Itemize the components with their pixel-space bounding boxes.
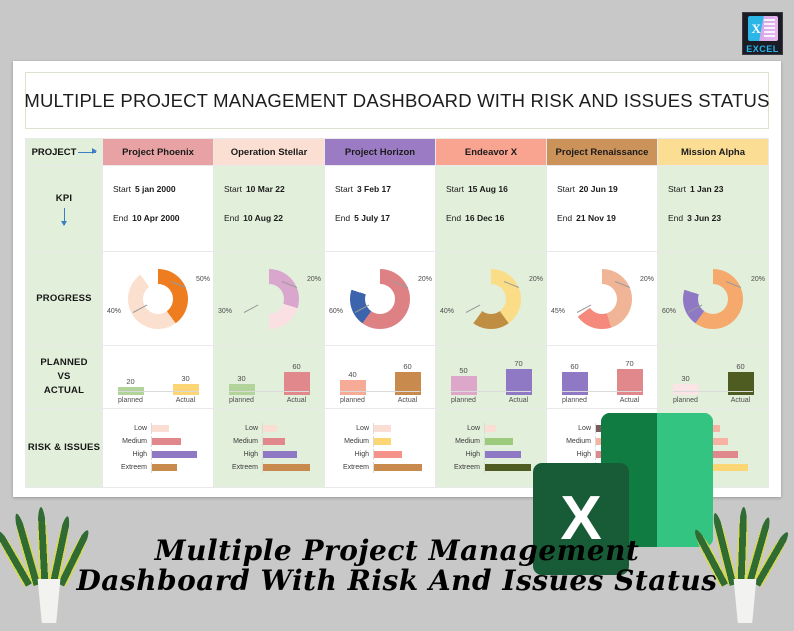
excel-badge: X EXCEL xyxy=(742,12,783,55)
pva-cell-4: 60planned70Actual xyxy=(547,346,658,409)
bar-caption: Actual xyxy=(287,397,306,404)
kpi-end-line: End3 Jun 23 xyxy=(668,213,768,223)
bar-value: 70 xyxy=(514,359,522,368)
bar-group-actual: 30Actual xyxy=(168,374,204,404)
kpi-end-value: 3 Jun 23 xyxy=(687,213,721,223)
risk-bar-track xyxy=(706,423,762,434)
risk-category-label: Low xyxy=(551,425,595,432)
progress-cell-5: 60%20% xyxy=(658,252,769,346)
risk-category-label: Medium xyxy=(329,438,373,445)
risk-row: High xyxy=(440,449,540,460)
progress-label-1: 20% xyxy=(529,276,543,283)
risk-row: High xyxy=(218,449,318,460)
bar-caption: Actual xyxy=(398,397,417,404)
risk-bar xyxy=(707,464,748,471)
risk-bar-track xyxy=(151,462,207,473)
donut-hole xyxy=(143,284,173,314)
risk-category-label: Medium xyxy=(218,438,262,445)
risk-bar xyxy=(485,425,496,432)
bar xyxy=(562,372,588,395)
row-label-kpi: KPI xyxy=(26,166,103,252)
bar xyxy=(284,372,310,395)
progress-label-1: 20% xyxy=(640,276,654,283)
kpi-cell-5: Start1 Jan 23End3 Jun 23 xyxy=(658,166,769,252)
risk-cell-3: LowMediumHighExtreem xyxy=(436,409,547,488)
risk-bar xyxy=(485,464,531,471)
bar-caption: planned xyxy=(229,397,254,404)
kpi-end-value: 16 Dec 16 xyxy=(465,213,504,223)
kpi-start-key: Start xyxy=(557,184,575,194)
bar xyxy=(673,384,699,395)
risk-bar-track xyxy=(151,436,207,447)
risk-category-label: High xyxy=(218,451,262,458)
plant-pot xyxy=(34,579,64,623)
progress-label-0: 45% xyxy=(551,308,565,315)
risk-category-label: Extreem xyxy=(329,464,373,471)
risk-row: Medium xyxy=(329,436,429,447)
risk-bar xyxy=(596,451,620,458)
donut-chart xyxy=(239,269,299,329)
kpi-end-key: End xyxy=(335,213,350,223)
progress-cell-4: 45%20% xyxy=(547,252,658,346)
risk-category-label: Extreem xyxy=(440,464,484,471)
dashboard-title-bar: MULTIPLE PROJECT MANAGEMENT DASHBOARD WI… xyxy=(25,72,769,129)
risk-bar-track xyxy=(262,436,318,447)
risk-bar-track xyxy=(595,423,651,434)
pva-chart-1: 30planned60Actual xyxy=(214,346,324,408)
kpi-start-line: Start10 Mar 22 xyxy=(224,184,324,194)
pva-cell-2: 40planned60Actual xyxy=(325,346,436,409)
row-label-progress: PROGRESS xyxy=(26,252,103,346)
kpi-start-value: 1 Jan 23 xyxy=(690,184,724,194)
risk-bar-track xyxy=(706,462,762,473)
project-name: Mission Alpha xyxy=(681,147,745,158)
project-header-0[interactable]: Project Phoenix xyxy=(103,139,214,166)
bar-caption: Actual xyxy=(176,397,195,404)
risk-chart-5: LowMediumHighExtreem xyxy=(658,409,768,487)
kpi-end-value: 5 July 17 xyxy=(354,213,390,223)
kpi-end-line: End21 Nov 19 xyxy=(557,213,657,223)
risk-bar xyxy=(263,438,285,445)
risk-chart-2: LowMediumHighExtreem xyxy=(325,409,435,487)
risk-bar xyxy=(707,425,720,432)
risk-bar xyxy=(596,464,630,471)
caption-line-2: Dashboard With Risk And Issues Status xyxy=(76,566,717,595)
donut-hole xyxy=(476,284,506,314)
donut-hole xyxy=(254,284,284,314)
risk-row: Medium xyxy=(440,436,540,447)
risk-bar xyxy=(152,438,181,445)
risk-category-label: Low xyxy=(218,425,262,432)
kpi-start-value: 10 Mar 22 xyxy=(246,184,285,194)
progress-label-0: 60% xyxy=(662,308,676,315)
bar-value: 60 xyxy=(736,362,744,371)
kpi-cell-1: Start10 Mar 22End10 Aug 22 xyxy=(214,166,325,252)
dashboard-board: MULTIPLE PROJECT MANAGEMENT DASHBOARD WI… xyxy=(13,61,781,497)
bar-group-actual: 60Actual xyxy=(279,362,315,404)
risk-issues-row: RISK & ISSUESLowMediumHighExtreemLowMedi… xyxy=(26,409,769,488)
kpi-cell-3: Start15 Aug 16End16 Dec 16 xyxy=(436,166,547,252)
bar-value: 60 xyxy=(403,362,411,371)
bar-group-planned: 30planned xyxy=(224,374,260,404)
risk-bar-track xyxy=(484,423,540,434)
pva-cell-5: 30planned60Actual xyxy=(658,346,769,409)
bar-caption: planned xyxy=(451,397,476,404)
kpi-start-key: Start xyxy=(113,184,131,194)
bar-group-planned: 20planned xyxy=(113,377,149,404)
progress-label-0: 40% xyxy=(107,308,121,315)
bar-caption: planned xyxy=(118,397,143,404)
row-label-pva-1: PLANNED xyxy=(40,357,87,368)
kpi-start-line: Start1 Jan 23 xyxy=(668,184,768,194)
bar-value: 40 xyxy=(348,370,356,379)
progress-label-1: 20% xyxy=(751,276,765,283)
risk-category-label: High xyxy=(551,451,595,458)
risk-category-label: Medium xyxy=(107,438,151,445)
bar xyxy=(118,387,144,395)
risk-bar xyxy=(374,464,422,471)
progress-chart-2: 60%20% xyxy=(325,252,435,345)
risk-bar xyxy=(263,464,310,471)
progress-cell-3: 40%20% xyxy=(436,252,547,346)
risk-row: Low xyxy=(107,423,207,434)
bar-group-planned: 40planned xyxy=(335,370,371,404)
kpi-end-line: End10 Aug 22 xyxy=(224,213,324,223)
bar-caption: Actual xyxy=(620,397,639,404)
risk-row: Low xyxy=(218,423,318,434)
risk-row: Medium xyxy=(551,436,651,447)
risk-bar xyxy=(485,451,521,458)
risk-bar-track xyxy=(706,436,762,447)
risk-row: Low xyxy=(551,423,651,434)
risk-chart-4: LowMediumHighExtreem xyxy=(547,409,657,487)
risk-category-label: Low xyxy=(440,425,484,432)
kpi-start-line: Start15 Aug 16 xyxy=(446,184,546,194)
risk-cell-1: LowMediumHighExtreem xyxy=(214,409,325,488)
bar-caption: planned xyxy=(673,397,698,404)
risk-cell-0: LowMediumHighExtreem xyxy=(103,409,214,488)
bar xyxy=(617,369,643,395)
row-label-pva-2: VS xyxy=(57,371,70,382)
row-label-risk-text: RISK & ISSUES xyxy=(28,442,100,453)
kpi-start-line: Start20 Jun 19 xyxy=(557,184,657,194)
bar xyxy=(395,372,421,395)
bar xyxy=(728,372,754,395)
project-header-3[interactable]: Endeavor X xyxy=(436,139,547,166)
kpi-cell-2: Start3 Feb 17End5 July 17 xyxy=(325,166,436,252)
kpi-start-line: Start5 jan 2000 xyxy=(113,184,213,194)
risk-bar-track xyxy=(595,462,651,473)
pva-chart-2: 40planned60Actual xyxy=(325,346,435,408)
caption-line-1: Multiple Project Management xyxy=(155,536,640,565)
risk-row: High xyxy=(551,449,651,460)
kpi-end-key: End xyxy=(668,213,683,223)
risk-bar xyxy=(707,451,738,458)
plant-left-decoration xyxy=(6,503,92,623)
project-header-4[interactable]: Project Renaissance xyxy=(547,139,658,166)
risk-bar-track xyxy=(262,462,318,473)
arrow-right-icon xyxy=(78,152,96,153)
bar-value: 60 xyxy=(292,362,300,371)
risk-category-label: Medium xyxy=(551,438,595,445)
risk-bar xyxy=(374,451,402,458)
project-name: Endeavor X xyxy=(465,147,517,158)
bar-caption: Actual xyxy=(509,397,528,404)
project-header-row: PROJECTProject PhoenixOperation StellarP… xyxy=(26,139,769,166)
progress-label-0: 40% xyxy=(440,308,454,315)
bar xyxy=(173,384,199,395)
bar-group-planned: 60planned xyxy=(557,362,593,404)
project-name: Project Horizon xyxy=(345,147,415,158)
pva-cell-3: 50planned70Actual xyxy=(436,346,547,409)
risk-bar xyxy=(596,425,613,432)
bar-group-actual: 70Actual xyxy=(501,359,537,404)
risk-bar xyxy=(152,464,177,471)
bar-caption: planned xyxy=(562,397,587,404)
risk-bar-track xyxy=(595,436,651,447)
kpi-start-key: Start xyxy=(446,184,464,194)
risk-bar xyxy=(152,425,169,432)
risk-bar xyxy=(485,438,513,445)
bar xyxy=(506,369,532,395)
risk-row: Medium xyxy=(218,436,318,447)
donut-chart xyxy=(128,269,188,329)
kpi-cell-0: Start5 jan 2000End10 Apr 2000 xyxy=(103,166,214,252)
risk-category-label: High xyxy=(107,451,151,458)
bar-value: 30 xyxy=(681,374,689,383)
risk-bar xyxy=(263,451,297,458)
risk-cell-5: LowMediumHighExtreem xyxy=(658,409,769,488)
progress-label-1: 50% xyxy=(196,276,210,283)
risk-bar-track xyxy=(151,423,207,434)
progress-chart-3: 40%20% xyxy=(436,252,546,345)
pva-chart-3: 50planned70Actual xyxy=(436,346,546,408)
excel-icon: X xyxy=(748,16,778,41)
risk-row: Extreem xyxy=(662,462,762,473)
risk-bar-track xyxy=(373,462,429,473)
excel-icon-lines xyxy=(764,19,775,38)
donut-chart xyxy=(350,269,410,329)
kpi-end-value: 10 Aug 22 xyxy=(243,213,283,223)
plant-pot xyxy=(730,579,760,623)
risk-bar-track xyxy=(484,462,540,473)
risk-row: Extreem xyxy=(107,462,207,473)
pva-cell-1: 30planned60Actual xyxy=(214,346,325,409)
kpi-cell-4: Start20 Jun 19End21 Nov 19 xyxy=(547,166,658,252)
row-label-pva-3: ACTUAL xyxy=(44,385,84,396)
risk-row: Medium xyxy=(107,436,207,447)
kpi-end-key: End xyxy=(113,213,128,223)
bar-caption: Actual xyxy=(731,397,750,404)
risk-bar-track xyxy=(706,449,762,460)
risk-row: High xyxy=(329,449,429,460)
pva-chart-4: 60planned70Actual xyxy=(547,346,657,408)
row-label-progress-text: PROGRESS xyxy=(36,293,91,304)
project-header-5[interactable]: Mission Alpha xyxy=(658,139,769,166)
row-label-risk: RISK & ISSUES xyxy=(26,409,103,488)
pva-cell-0: 20planned30Actual xyxy=(103,346,214,409)
risk-bar xyxy=(374,425,391,432)
risk-category-label: Extreem xyxy=(551,464,595,471)
bottom-caption: Multiple Project Management Dashboard Wi… xyxy=(0,500,794,631)
risk-row: Low xyxy=(440,423,540,434)
kpi-start-line: Start3 Feb 17 xyxy=(335,184,435,194)
page-title: MULTIPLE PROJECT MANAGEMENT DASHBOARD WI… xyxy=(24,90,769,112)
pva-chart-0: 20planned30Actual xyxy=(103,346,213,408)
project-name: Project Renaissance xyxy=(556,147,649,158)
risk-category-label: Low xyxy=(329,425,373,432)
bar-value: 30 xyxy=(181,374,189,383)
donut-hole xyxy=(365,284,395,314)
progress-row: PROGRESS40%50%30%20%60%20%40%20%45%20%60… xyxy=(26,252,769,346)
bar-value: 30 xyxy=(237,374,245,383)
kpi-start-value: 5 jan 2000 xyxy=(135,184,176,194)
row-label-kpi-text: KPI xyxy=(56,193,72,204)
risk-category-label: Medium xyxy=(662,438,706,445)
progress-chart-5: 60%20% xyxy=(658,252,768,345)
risk-category-label: Medium xyxy=(440,438,484,445)
bar xyxy=(340,380,366,395)
risk-cell-2: LowMediumHighExtreem xyxy=(325,409,436,488)
bar-caption: planned xyxy=(340,397,365,404)
kpi-row: KPIStart5 jan 2000End10 Apr 2000Start10 … xyxy=(26,166,769,252)
risk-bar-track xyxy=(262,423,318,434)
risk-bar xyxy=(374,438,391,445)
risk-bar xyxy=(263,425,277,432)
risk-chart-3: LowMediumHighExtreem xyxy=(436,409,546,487)
risk-bar-track xyxy=(373,423,429,434)
donut-chart xyxy=(572,269,632,329)
risk-bar-track xyxy=(373,436,429,447)
risk-bar-track xyxy=(595,449,651,460)
bar-group-planned: 30planned xyxy=(668,374,704,404)
risk-category-label: High xyxy=(329,451,373,458)
kpi-end-key: End xyxy=(557,213,572,223)
risk-cell-4: LowMediumHighExtreem xyxy=(547,409,658,488)
risk-bar-track xyxy=(373,449,429,460)
risk-bar-track xyxy=(484,436,540,447)
project-header-2[interactable]: Project Horizon xyxy=(325,139,436,166)
donut-chart xyxy=(683,269,743,329)
kpi-start-key: Start xyxy=(224,184,242,194)
risk-row: Extreem xyxy=(440,462,540,473)
progress-chart-0: 40%50% xyxy=(103,252,213,345)
kpi-end-line: End16 Dec 16 xyxy=(446,213,546,223)
kpi-end-key: End xyxy=(446,213,461,223)
progress-chart-1: 30%20% xyxy=(214,252,324,345)
excel-badge-label: EXCEL xyxy=(746,44,779,54)
risk-row: Low xyxy=(662,423,762,434)
kpi-end-line: End10 Apr 2000 xyxy=(113,213,213,223)
risk-row: Extreem xyxy=(551,462,651,473)
risk-row: High xyxy=(107,449,207,460)
kpi-end-value: 10 Apr 2000 xyxy=(132,213,179,223)
bar-value: 20 xyxy=(126,377,134,386)
bar-group-actual: 70Actual xyxy=(612,359,648,404)
progress-label-0: 60% xyxy=(329,308,343,315)
bar-group-actual: 60Actual xyxy=(723,362,759,404)
risk-category-label: Extreem xyxy=(107,464,151,471)
bar-group-planned: 50planned xyxy=(446,366,482,404)
pva-chart-5: 30planned60Actual xyxy=(658,346,768,408)
bar-value: 60 xyxy=(570,362,578,371)
risk-row: Extreem xyxy=(218,462,318,473)
donut-hole xyxy=(587,284,617,314)
bar-group-actual: 60Actual xyxy=(390,362,426,404)
kpi-start-value: 15 Aug 16 xyxy=(468,184,508,194)
kpi-start-key: Start xyxy=(335,184,353,194)
progress-label-1: 20% xyxy=(418,276,432,283)
grid-corner-label: PROJECT xyxy=(26,139,103,166)
project-header-1[interactable]: Operation Stellar xyxy=(214,139,325,166)
donut-hole xyxy=(698,284,728,314)
project-name: Operation Stellar xyxy=(231,147,308,158)
project-name: Project Phoenix xyxy=(122,147,194,158)
arrow-down-icon xyxy=(64,208,65,225)
kpi-end-line: End5 July 17 xyxy=(335,213,435,223)
risk-chart-0: LowMediumHighExtreem xyxy=(103,409,213,487)
risk-category-label: High xyxy=(440,451,484,458)
bar xyxy=(229,384,255,395)
risk-bar-track xyxy=(484,449,540,460)
risk-bar-track xyxy=(151,449,207,460)
bar-value: 70 xyxy=(625,359,633,368)
kpi-start-value: 3 Feb 17 xyxy=(357,184,391,194)
plant-right-decoration xyxy=(702,503,788,623)
risk-category-label: Low xyxy=(107,425,151,432)
bar xyxy=(451,376,477,395)
progress-label-1: 20% xyxy=(307,276,321,283)
planned-vs-actual-row: PLANNEDVSACTUAL20planned30Actual30planne… xyxy=(26,346,769,409)
risk-row: High xyxy=(662,449,762,460)
risk-category-label: Extreem xyxy=(218,464,262,471)
dashboard-grid: PROJECTProject PhoenixOperation StellarP… xyxy=(25,138,769,488)
progress-cell-0: 40%50% xyxy=(103,252,214,346)
risk-category-label: Low xyxy=(662,425,706,432)
risk-category-label: High xyxy=(662,451,706,458)
progress-cell-1: 30%20% xyxy=(214,252,325,346)
corner-label-text: PROJECT xyxy=(32,147,77,158)
risk-row: Extreem xyxy=(329,462,429,473)
risk-bar xyxy=(596,438,608,445)
progress-chart-4: 45%20% xyxy=(547,252,657,345)
kpi-start-value: 20 Jun 19 xyxy=(579,184,618,194)
kpi-start-key: Start xyxy=(668,184,686,194)
excel-icon-letter: X xyxy=(752,22,761,35)
bar-value: 50 xyxy=(459,366,467,375)
risk-row: Low xyxy=(329,423,429,434)
row-label-planned-vs-actual: PLANNEDVSACTUAL xyxy=(26,346,103,409)
risk-category-label: Extreem xyxy=(662,464,706,471)
donut-chart xyxy=(461,269,521,329)
risk-bar-track xyxy=(262,449,318,460)
risk-chart-1: LowMediumHighExtreem xyxy=(214,409,324,487)
risk-row: Medium xyxy=(662,436,762,447)
kpi-end-key: End xyxy=(224,213,239,223)
risk-bar xyxy=(152,451,197,458)
risk-bar xyxy=(707,438,728,445)
progress-label-0: 30% xyxy=(218,308,232,315)
kpi-end-value: 21 Nov 19 xyxy=(576,213,616,223)
progress-cell-2: 60%20% xyxy=(325,252,436,346)
